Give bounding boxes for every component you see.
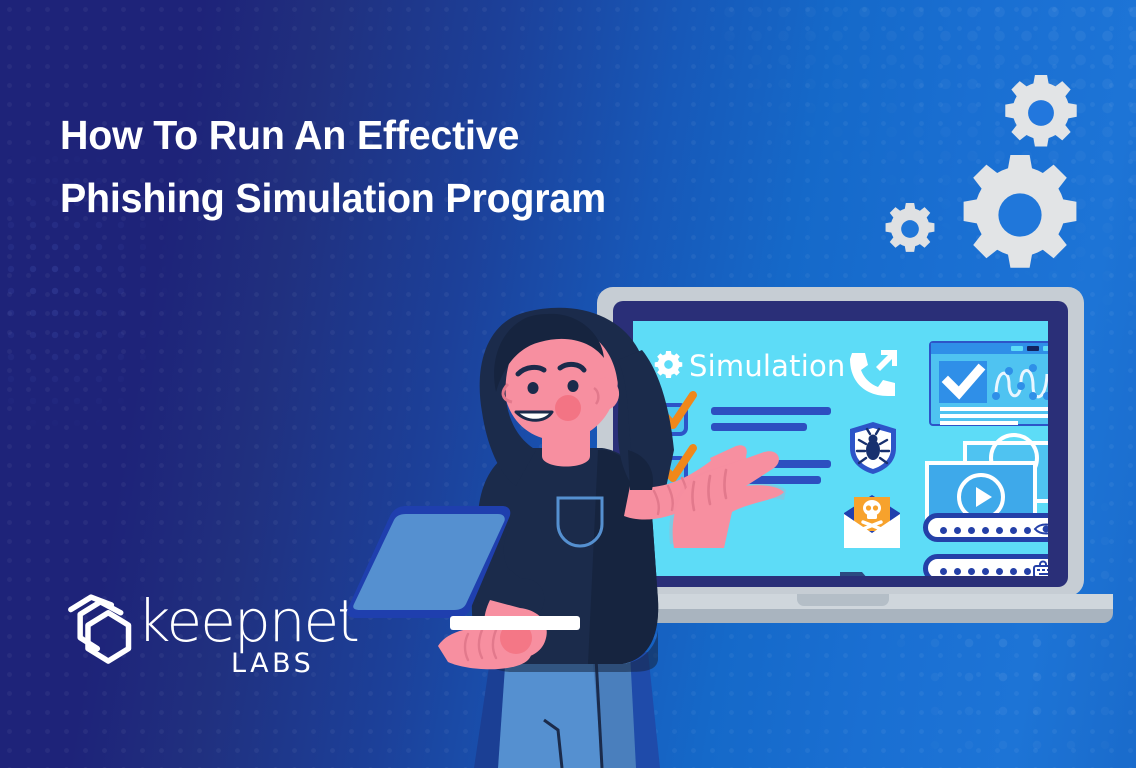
masked-char	[968, 527, 975, 534]
text-line	[940, 414, 1048, 418]
keyboard-lock-icon[interactable]	[1033, 562, 1048, 576]
masked-char	[1010, 568, 1017, 575]
phone-outgoing-icon	[848, 347, 900, 395]
keepnet-hexagon-spiral-icon	[63, 594, 141, 672]
gear-icon-top-right	[1003, 75, 1079, 151]
window-control[interactable]	[1043, 346, 1048, 351]
masked-char	[982, 527, 989, 534]
masked-char	[982, 568, 989, 575]
text-line	[940, 407, 1048, 411]
masked-char	[940, 568, 947, 575]
report-window-card[interactable]	[929, 341, 1048, 426]
node-graph-icon	[991, 360, 1048, 404]
white-check-icon	[939, 361, 987, 403]
masked-char	[968, 568, 975, 575]
bug-shield-icon	[848, 421, 898, 475]
password-field-visible[interactable]	[923, 513, 1048, 542]
masked-char	[1010, 527, 1017, 534]
mini-laptop	[330, 498, 580, 648]
masked-char	[954, 527, 961, 534]
masked-char	[996, 527, 1003, 534]
window-title-bar	[931, 343, 1048, 354]
logo-wordmark: keepnet	[137, 592, 358, 650]
window-control[interactable]	[1011, 346, 1023, 351]
checkmark-thumbnail	[939, 361, 987, 403]
masked-char	[1024, 527, 1031, 534]
laptop-trackpad-notch	[797, 594, 889, 606]
page-title-line-2: Phishing Simulation Program	[60, 167, 790, 230]
text-line	[940, 421, 1018, 425]
keepnet-labs-logo[interactable]: keepnet LABS	[63, 586, 323, 686]
masked-char	[954, 568, 961, 575]
pointing-hand	[668, 438, 798, 548]
masked-char	[996, 568, 1003, 575]
logo-subtext: LABS	[231, 648, 314, 679]
gear-icon-large	[960, 155, 1080, 275]
folder-icon	[838, 564, 902, 576]
banner-canvas: How To Run An Effective Phishing Simulat…	[0, 0, 1136, 768]
masked-char	[940, 527, 947, 534]
page-title: How To Run An Effective Phishing Simulat…	[60, 104, 820, 230]
password-field-locked[interactable]	[923, 554, 1048, 576]
page-title-line-1: How To Run An Effective	[60, 104, 790, 167]
eye-icon[interactable]	[1034, 522, 1048, 536]
masked-char	[1024, 568, 1031, 575]
phishing-email-skull-icon	[841, 493, 903, 549]
gear-icon-small	[884, 203, 936, 255]
window-control[interactable]	[1027, 346, 1039, 351]
